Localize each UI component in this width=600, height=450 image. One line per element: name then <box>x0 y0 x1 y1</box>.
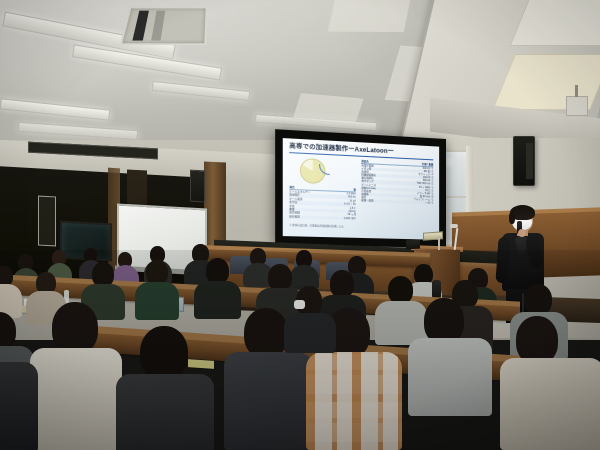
slide-left-column: 項目値ビームエネルギー1.0 MeV加速電圧500 kVビーム電流10 µA真空… <box>289 156 356 233</box>
person-body <box>116 374 214 450</box>
handout-paper <box>188 359 214 369</box>
ceiling-panel <box>328 0 413 32</box>
table-cell: 配線・配管 <box>361 199 403 204</box>
person-body <box>194 281 241 319</box>
person-body <box>224 352 312 450</box>
projection-screen-surface: 高専での加速器製作ーAxeLatoonー 項目値ビームエネルギー1.0 MeV加… <box>283 138 439 240</box>
person-body-hoodie <box>408 338 492 416</box>
ceiling-panel <box>510 0 600 46</box>
table-cell: 製作費用 <box>289 215 331 220</box>
lecture-hall-photo: 高専での加速器製作ーAxeLatoonー 項目値ビームエネルギー1.0 MeV加… <box>0 0 600 450</box>
microphone-head-icon <box>450 224 458 228</box>
person-body <box>0 362 38 450</box>
person-head <box>524 284 552 315</box>
desk-lamp-icon <box>423 231 443 240</box>
slide-body: 項目値ビームエネルギー1.0 MeV加速電圧500 kVビーム電流10 µA真空… <box>289 156 433 235</box>
person-head <box>244 308 288 358</box>
table-cell: 一式 / 1 <box>403 201 433 205</box>
person-head <box>140 326 188 380</box>
wall-frame <box>38 196 56 247</box>
ceiling-panel <box>293 93 364 125</box>
presenter-hair <box>510 205 535 220</box>
presenter-hand <box>518 229 526 237</box>
slide-right-table: 部品名仕様 / 数量高電圧電源500 kV / 1イオン源RF 型 / 1加速管… <box>361 160 433 205</box>
projection-screen: 高専での加速器製作ーAxeLatoonー 項目値ビームエネルギー1.0 MeV加… <box>275 129 446 248</box>
ceiling-fixture-icon <box>566 96 588 116</box>
person-body-plaid-shirt <box>306 352 402 450</box>
slide-left-table: 項目値ビームエネルギー1.0 MeV加速電圧500 kVビーム電流10 µA真空… <box>289 185 356 220</box>
person-body <box>135 282 179 320</box>
audience-area <box>0 250 600 450</box>
person-head <box>52 302 98 354</box>
laptop <box>406 240 420 250</box>
slide-pie-figure <box>294 157 357 185</box>
person-head <box>516 316 558 364</box>
person-body <box>284 313 336 353</box>
ceiling-vent-icon <box>120 7 208 45</box>
table-row: 製作費用3,200 千円 <box>289 215 356 221</box>
person-head <box>388 276 413 304</box>
table-cell: 3,200 千円 <box>331 216 356 220</box>
person-body <box>30 348 122 450</box>
person-head <box>330 270 354 298</box>
desk-lamp-stem <box>438 236 440 250</box>
wall-speaker-icon <box>190 170 205 203</box>
wall-speaker-icon <box>513 136 535 186</box>
presentation-slide: 高専での加速器製作ーAxeLatoonー 項目値ビームエネルギー1.0 MeV加… <box>283 138 439 240</box>
face-mask-icon <box>294 300 305 309</box>
person-body <box>500 358 600 450</box>
person-head <box>268 264 292 291</box>
slide-right-column: 部品名仕様 / 数量高電圧電源500 kV / 1イオン源RF 型 / 1加速管… <box>361 160 433 236</box>
